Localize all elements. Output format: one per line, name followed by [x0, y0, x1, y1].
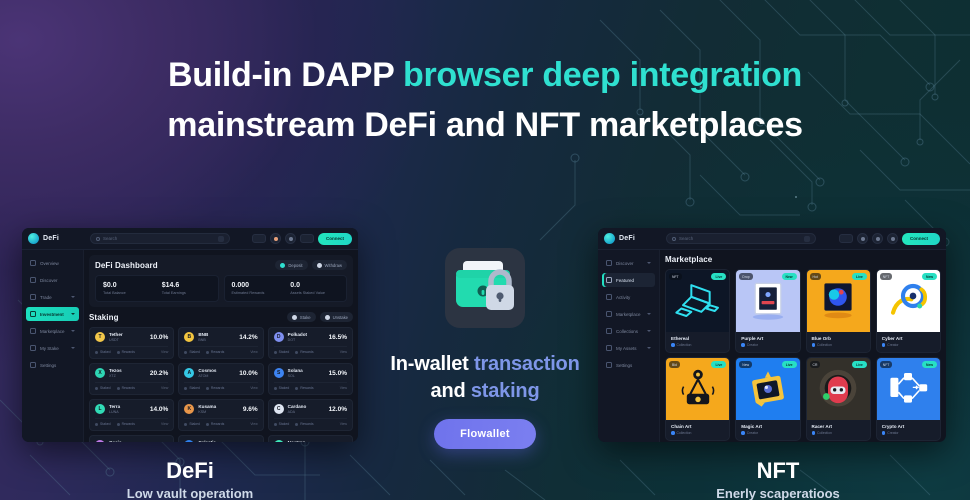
sidebar-item-investment[interactable]: Investment — [26, 307, 79, 321]
sidebar-item-discover[interactable]: Discover — [26, 273, 79, 287]
coin-icon — [292, 315, 297, 320]
chevron-down-icon — [647, 330, 651, 332]
center-accent-1: transaction — [474, 353, 580, 375]
asset-symbol: USDT — [109, 338, 146, 342]
view-link[interactable]: View — [161, 422, 168, 426]
apy-value: 9.6% — [243, 406, 258, 413]
nft-artwork: NewLive — [736, 358, 799, 420]
staking-card-meta: StakedRewardsView — [184, 346, 257, 354]
nft-subtitle-row: Creator — [741, 343, 794, 347]
nft-artwork: NFTLive — [666, 270, 729, 332]
asset-name: Tether — [109, 332, 146, 337]
defi-header-actions: DepositWithdraw — [275, 260, 347, 270]
stat-group: 0.000Estimated Rewards0.0Assets Staked V… — [224, 275, 348, 302]
headline-line-1: Build-in DAPP browser deep integration — [0, 50, 970, 100]
nft-content: Marketplace NFTLiveEtherealCollectionDro… — [660, 250, 946, 442]
sidebar-item-marketplace[interactable]: Marketplace — [602, 307, 655, 321]
asset-name: Cosmos — [198, 368, 235, 373]
rewards-meta: Rewards — [117, 350, 135, 354]
verified-icon — [671, 431, 675, 435]
coin-icon: C — [274, 404, 284, 414]
center-headline-line-1: In-wallet transaction — [380, 351, 590, 378]
nft-card[interactable]: NFTNewCyber ArtCreator — [876, 269, 941, 353]
stake-button[interactable]: Stake — [287, 312, 316, 322]
staking-card[interactable]: BBNBBNB14.2%StakedRewardsView — [178, 327, 263, 359]
sidebar-item-settings[interactable]: Settings — [26, 358, 79, 372]
swap-icon — [30, 294, 36, 300]
nft-badge-left: CR — [810, 361, 821, 368]
brand-name: DeFi — [619, 235, 635, 242]
nft-card[interactable]: DropNewPurple ArtCreator — [735, 269, 800, 353]
nft-meta: Purple ArtCreator — [736, 332, 799, 352]
nft-badge-right: Live — [782, 361, 797, 368]
staked-meta: Staked — [184, 350, 200, 354]
nft-title: Crypto Art — [882, 424, 935, 429]
center-accent-2: staking — [471, 380, 540, 402]
nft-title: Cyber Art — [882, 336, 935, 341]
nft-topbar: DeFi Search Connect — [598, 228, 946, 250]
nft-title: Ethereal — [671, 336, 724, 341]
nft-subtitle: Collection — [677, 431, 692, 435]
asset-symbol: ADA — [288, 410, 325, 414]
stat-item: 0.000Estimated Rewards — [232, 282, 281, 295]
brand-name: DeFi — [43, 235, 59, 242]
nft-subtitle: Creator — [747, 431, 758, 435]
coin-icon: B — [184, 332, 194, 342]
rewards-meta: Rewards — [295, 422, 313, 426]
nft-subtitle: Creator — [887, 431, 898, 435]
nft-title: Chain Art — [671, 424, 724, 429]
gear-icon[interactable] — [872, 233, 883, 244]
stat-item: $0.0Total Balance — [103, 282, 152, 295]
staking-card[interactable]: NNeutronNTRN16.0%StakedRewardsView — [268, 435, 353, 442]
nft-brand[interactable]: DeFi — [604, 233, 666, 244]
withdraw-button[interactable]: Withdraw — [312, 260, 347, 270]
nft-meta: Magic ArtCreator — [736, 420, 799, 440]
nft-badge-right: New — [782, 273, 797, 280]
search-icon — [672, 237, 676, 241]
stat-item: 0.0Assets Staked Value — [290, 282, 339, 295]
rewards-meta: Rewards — [295, 386, 313, 390]
staking-card-head: CCardanoADA12.0% — [274, 404, 347, 414]
nft-artwork: NFTNew — [877, 270, 940, 332]
nft-badge-left: Drop — [739, 273, 752, 280]
nft-card[interactable]: HotLiveBlue OrbCollection — [806, 269, 871, 353]
verified-icon — [741, 343, 745, 347]
defi-caption-title: DeFi — [60, 458, 320, 484]
flowallet-cta-button[interactable]: Flowallet — [434, 419, 536, 449]
defi-dashboard-header: DeFi Dashboard DepositWithdraw — [95, 260, 347, 270]
star-icon — [606, 277, 612, 283]
gear-icon — [606, 362, 612, 368]
asset-symbol: LUNA — [109, 410, 146, 414]
staking-card-head: SSolanaSOL15.0% — [274, 368, 347, 378]
staking-card-names: OasisROSE — [109, 440, 150, 442]
page-title: Marketplace — [665, 255, 712, 264]
staking-card-head: BBNBBNB14.2% — [184, 332, 257, 342]
center-plain-2: and — [431, 380, 471, 402]
nft-badge-left: New — [739, 361, 752, 368]
coin-icon: T — [95, 332, 105, 342]
staked-meta: Staked — [274, 386, 290, 390]
nft-topbar-actions: Connect — [839, 233, 940, 245]
connect-wallet-button[interactable]: Connect — [318, 233, 352, 245]
nft-meta: EtherealCollection — [666, 332, 729, 352]
center-headline-line-2: and staking — [380, 378, 590, 405]
asset-symbol: KSM — [198, 410, 239, 414]
staking-card-head: KKusamaKSM9.6% — [184, 404, 257, 414]
view-link[interactable]: View — [161, 386, 168, 390]
deposit-button[interactable]: Deposit — [275, 260, 307, 270]
staking-card-head: TTetherUSDT10.0% — [95, 332, 168, 342]
nft-artwork: HotLive — [807, 270, 870, 332]
staked-meta: Staked — [274, 350, 290, 354]
asset-symbol: SOL — [288, 374, 325, 378]
connect-wallet-button[interactable]: Connect — [902, 233, 940, 245]
sidebar-item-activity[interactable]: Activity — [602, 290, 655, 304]
staking-card-meta: StakedRewardsView — [274, 346, 347, 354]
staking-card-meta: StakedRewardsView — [184, 418, 257, 426]
nft-title: Blue Orb — [812, 336, 865, 341]
asset-name: Celestia — [198, 440, 235, 442]
logo-icon — [604, 233, 615, 244]
nft-title: Magic Art — [741, 424, 794, 429]
sidebar-item-featured[interactable]: Featured — [602, 273, 655, 287]
staking-card-head: XTezosXTZ20.2% — [95, 368, 168, 378]
button-label: Stake — [300, 315, 311, 320]
minus-icon — [325, 315, 330, 320]
nft-subtitle: Creator — [747, 343, 758, 347]
stat-value: 0.000 — [232, 282, 281, 289]
defi-body: OverviewDiscoverTradeInvestmentMarketpla… — [22, 250, 358, 442]
headline-plain-1: Build-in DAPP — [168, 56, 403, 94]
chart-icon — [30, 311, 36, 317]
plus-icon — [280, 263, 285, 268]
compass-icon — [30, 277, 36, 283]
nft-meta: Crypto ArtCreator — [877, 420, 940, 440]
view-link[interactable]: View — [340, 386, 347, 390]
staking-card[interactable]: DPolkadotDOT16.5%StakedRewardsView — [268, 327, 353, 359]
asset-symbol: ATOM — [198, 374, 235, 378]
nft-subtitle: Collection — [817, 431, 832, 435]
sidebar-item-label: Collections — [616, 329, 643, 334]
stat-value: $14.6 — [162, 282, 211, 289]
button-label: Unstake — [333, 315, 348, 320]
staking-card[interactable]: CCardanoADA12.0%StakedRewardsView — [268, 399, 353, 431]
avatar[interactable] — [270, 233, 281, 244]
defi-topbar-actions: Connect — [252, 233, 352, 245]
bell-icon[interactable] — [887, 233, 898, 244]
staked-meta: Staked — [95, 386, 111, 390]
stat-group: $0.0Total Balance$14.6Total Earnings — [95, 275, 219, 302]
nft-badge-left: NFT — [669, 273, 682, 280]
sidebar-item-discover[interactable]: Discover — [602, 256, 655, 270]
nft-subtitle: Collection — [817, 343, 832, 347]
nft-badge-right: Live — [711, 361, 726, 368]
coin-icon: S — [274, 368, 284, 378]
nft-badge-left: Bid — [669, 361, 680, 368]
sidebar-item-marketplace[interactable]: Marketplace — [26, 324, 79, 338]
rewards-meta: Rewards — [117, 422, 135, 426]
chevron-down-icon — [71, 330, 75, 332]
verified-icon — [812, 343, 816, 347]
staking-card-head: NNeutronNTRN16.0% — [274, 440, 347, 442]
apy-value: 14.2% — [239, 334, 257, 341]
sidebar-item-label: Overview — [40, 261, 75, 266]
coin-icon: D — [274, 332, 284, 342]
gear-icon[interactable] — [285, 233, 296, 244]
stat-label: Total Balance — [103, 291, 152, 295]
stat-value: 0.0 — [290, 282, 339, 289]
nft-caption: NFT Enerly scaperatioos — [648, 458, 908, 500]
store-icon — [30, 328, 36, 334]
staking-card-head: TCelestiaTIA14.0% — [184, 440, 257, 442]
network-selector-button[interactable] — [839, 234, 853, 243]
asset-name: Polkadot — [288, 332, 325, 337]
grid-icon — [30, 260, 36, 266]
staked-meta: Staked — [184, 422, 200, 426]
defi-brand[interactable]: DeFi — [28, 233, 90, 244]
nft-card[interactable]: NFTLiveEtherealCollection — [665, 269, 730, 353]
wallet-lock-icon — [439, 245, 531, 337]
coin-icon: L — [95, 404, 105, 414]
nft-badge-right: Live — [852, 273, 867, 280]
asset-name: Terra — [109, 404, 146, 409]
bell-icon[interactable] — [300, 234, 314, 243]
compass-icon — [606, 260, 612, 266]
sidebar-item-label: My Assets — [616, 346, 643, 351]
center-plain-1: In-wallet — [390, 353, 474, 375]
button-label: Withdraw — [325, 263, 342, 268]
store-icon — [606, 311, 612, 317]
staking-card[interactable]: SSolanaSOL15.0%StakedRewardsView — [268, 363, 353, 395]
staking-card-names: CelestiaTIA — [198, 440, 235, 442]
nft-badge-left: NFT — [880, 273, 893, 280]
nft-badge-left: Hot — [810, 273, 821, 280]
staked-meta: Staked — [274, 422, 290, 426]
nft-card[interactable]: NewLiveMagic ArtCreator — [735, 357, 800, 441]
rewards-meta: Rewards — [117, 386, 135, 390]
view-link[interactable]: View — [161, 350, 168, 354]
staking-card-names: TezosXTZ — [109, 368, 146, 378]
asset-symbol: DOT — [288, 338, 325, 342]
staking-card-meta: StakedRewardsView — [95, 382, 168, 390]
search-placeholder: Search — [679, 236, 693, 241]
staking-card[interactable]: ACosmosATOM10.0%StakedRewardsView — [178, 363, 263, 395]
nft-title: Racer Art — [812, 424, 865, 429]
coin-icon: K — [184, 404, 194, 414]
verified-icon — [882, 343, 886, 347]
chevron-down-icon — [647, 347, 651, 349]
nft-meta: Racer ArtCollection — [807, 420, 870, 440]
chevron-down-icon — [71, 313, 75, 315]
chevron-down-icon — [647, 262, 651, 264]
nft-subtitle-row: Collection — [671, 431, 724, 435]
staking-card[interactable]: KKusamaKSM9.6%StakedRewardsView — [178, 399, 263, 431]
nft-meta: Cyber ArtCreator — [877, 332, 940, 352]
staking-card[interactable]: ROasisROSE5.0%StakedRewardsView — [89, 435, 174, 442]
nft-search-input[interactable]: Search — [666, 233, 816, 244]
view-link[interactable]: View — [340, 350, 347, 354]
staking-card[interactable]: TCelestiaTIA14.0%StakedRewardsView — [178, 435, 263, 442]
lock-icon — [30, 345, 36, 351]
sidebar-item-trade[interactable]: Trade — [26, 290, 79, 304]
staking-card-names: KusamaKSM — [198, 404, 239, 414]
view-link[interactable]: View — [340, 422, 347, 426]
coin-icon: T — [184, 440, 194, 442]
chevron-down-icon — [647, 313, 651, 315]
nft-card[interactable]: NFTNewCrypto ArtCreator — [876, 357, 941, 441]
button-label: Deposit — [288, 263, 302, 268]
asset-name: Neutron — [288, 440, 325, 442]
asset-name: Tezos — [109, 368, 146, 373]
nft-card[interactable]: BidLiveChain ArtCollection — [665, 357, 730, 441]
search-placeholder: Search — [103, 236, 117, 241]
staking-card-names: CardanoADA — [288, 404, 325, 414]
staking-card-meta: StakedRewardsView — [95, 346, 168, 354]
apy-value: 16.5% — [329, 334, 347, 341]
nft-subtitle: Collection — [677, 343, 692, 347]
nft-subtitle-row: Collection — [671, 343, 724, 347]
wallet-icon — [606, 345, 612, 351]
view-link[interactable]: View — [250, 350, 257, 354]
nft-app-window: DeFi Search Connect DiscoverFeaturedActi… — [598, 228, 946, 442]
nft-title: Purple Art — [741, 336, 794, 341]
headline-line-2: mainstream DeFi and NFT marketplaces — [0, 100, 970, 150]
sidebar-item-my-stake[interactable]: My Stake — [26, 341, 79, 355]
nft-subtitle: Creator — [887, 343, 898, 347]
stat-label: Estimated Rewards — [232, 291, 281, 295]
staking-card-meta: StakedRewardsView — [274, 382, 347, 390]
nft-card[interactable]: CRLiveRacer ArtCollection — [806, 357, 871, 441]
sidebar-item-label: Marketplace — [616, 312, 643, 317]
staked-meta: Staked — [184, 386, 200, 390]
nft-badge-right: New — [922, 273, 937, 280]
staking-card-head: ROasisROSE5.0% — [95, 440, 168, 442]
center-headline: In-wallet transaction and staking — [380, 351, 590, 405]
view-link[interactable]: View — [250, 386, 257, 390]
poster-canvas: Build-in DAPP browser deep integration m… — [0, 0, 970, 500]
nft-sidebar: DiscoverFeaturedActivityMarketplaceColle… — [598, 250, 660, 442]
asset-name: Solana — [288, 368, 325, 373]
defi-caption-subtitle: Low vault operatiom — [60, 486, 320, 500]
defi-search-input[interactable]: Search — [90, 233, 230, 244]
nft-badge-right: Live — [711, 273, 726, 280]
staking-card-names: NeutronNTRN — [288, 440, 325, 442]
staking-card-names: PolkadotDOT — [288, 332, 325, 342]
view-link[interactable]: View — [250, 422, 257, 426]
defi-app-window: DeFi Search Connect OverviewDiscoverTrad… — [22, 228, 358, 442]
staking-title: Staking — [89, 313, 119, 322]
staking-card-names: TerraLUNA — [109, 404, 146, 414]
stat-label: Total Earnings — [162, 291, 211, 295]
asset-name: Oasis — [109, 440, 150, 442]
sidebar-item-label: Activity — [616, 295, 651, 300]
rewards-meta: Rewards — [206, 350, 224, 354]
staking-card[interactable]: XTezosXTZ20.2%StakedRewardsView — [89, 363, 174, 395]
staking-card-names: SolanaSOL — [288, 368, 325, 378]
nft-subtitle-row: Creator — [882, 431, 935, 435]
nft-grid-row-1: NFTLiveEtherealCollectionDropNewPurple A… — [665, 269, 941, 353]
sidebar-item-label: Marketplace — [40, 329, 67, 334]
coin-icon: N — [274, 440, 284, 442]
stat-item: $14.6Total Earnings — [162, 282, 211, 295]
staking-card[interactable]: LTerraLUNA14.0%StakedRewardsView — [89, 399, 174, 431]
staked-meta: Staked — [95, 350, 111, 354]
sidebar-item-overview[interactable]: Overview — [26, 256, 79, 270]
staking-card-meta: StakedRewardsView — [95, 418, 168, 426]
sidebar-item-label: Settings — [40, 363, 75, 368]
apy-value: 14.0% — [239, 442, 257, 443]
grid-icon[interactable] — [857, 233, 868, 244]
search-shortcut-key — [218, 236, 224, 242]
staking-card[interactable]: TTetherUSDT10.0%StakedRewardsView — [89, 327, 174, 359]
search-icon — [96, 237, 100, 241]
headline-accent-1: browser deep integration — [403, 56, 802, 94]
staked-meta: Staked — [95, 422, 111, 426]
staking-grid: TTetherUSDT10.0%StakedRewardsViewBBNBBNB… — [89, 327, 353, 442]
asset-name: Kusama — [198, 404, 239, 409]
sidebar-item-label: My Stake — [40, 346, 67, 351]
apy-value: 14.0% — [150, 406, 168, 413]
nft-badge-left: NFT — [880, 361, 893, 368]
nft-meta: Blue OrbCollection — [807, 332, 870, 352]
asset-name: BNB — [198, 332, 235, 337]
sidebar-item-collections[interactable]: Collections — [602, 324, 655, 338]
network-selector-button[interactable] — [252, 234, 266, 243]
sidebar-item-label: Discover — [616, 261, 643, 266]
nft-subtitle-row: Creator — [882, 343, 935, 347]
defi-stat-row: $0.0Total Balance$14.6Total Earnings0.00… — [95, 275, 347, 302]
nft-badge-right: New — [922, 361, 937, 368]
staking-card-names: CosmosATOM — [198, 368, 235, 378]
defi-content: DeFi Dashboard DepositWithdraw $0.0Total… — [84, 250, 358, 442]
nft-subtitle-row: Creator — [741, 431, 794, 435]
verified-icon — [882, 431, 886, 435]
coin-icon: X — [95, 368, 105, 378]
defi-topbar: DeFi Search Connect — [22, 228, 358, 250]
nft-grid-row-2: BidLiveChain ArtCollectionNewLiveMagic A… — [665, 357, 941, 441]
asset-name: Cardano — [288, 404, 325, 409]
nft-meta: Chain ArtCollection — [666, 420, 729, 440]
unstake-button[interactable]: Unstake — [320, 312, 353, 322]
verified-icon — [671, 343, 675, 347]
nft-artwork: CRLive — [807, 358, 870, 420]
nft-caption-subtitle: Enerly scaperatioos — [648, 486, 908, 500]
nft-artwork: DropNew — [736, 270, 799, 332]
pulse-icon — [606, 294, 612, 300]
center-feature: In-wallet transaction and staking Flowal… — [380, 245, 590, 449]
sidebar-item-label: Trade — [40, 295, 67, 300]
sidebar-item-settings[interactable]: Settings — [602, 358, 655, 372]
coin-icon: R — [95, 440, 105, 442]
apy-value: 15.0% — [329, 370, 347, 377]
staking-card-meta: StakedRewardsView — [184, 382, 257, 390]
sidebar-item-my-assets[interactable]: My Assets — [602, 341, 655, 355]
nft-badge-right: Live — [852, 361, 867, 368]
rewards-meta: Rewards — [206, 386, 224, 390]
staking-card-head: DPolkadotDOT16.5% — [274, 332, 347, 342]
asset-symbol: BNB — [198, 338, 235, 342]
defi-caption: DeFi Low vault operatiom — [60, 458, 320, 500]
stat-value: $0.0 — [103, 282, 152, 289]
sidebar-item-label: Investment — [40, 312, 67, 317]
chevron-down-icon — [71, 347, 75, 349]
logo-icon — [28, 233, 39, 244]
apy-value: 10.0% — [239, 370, 257, 377]
apy-value: 20.2% — [150, 370, 168, 377]
nft-artwork: BidLive — [666, 358, 729, 420]
